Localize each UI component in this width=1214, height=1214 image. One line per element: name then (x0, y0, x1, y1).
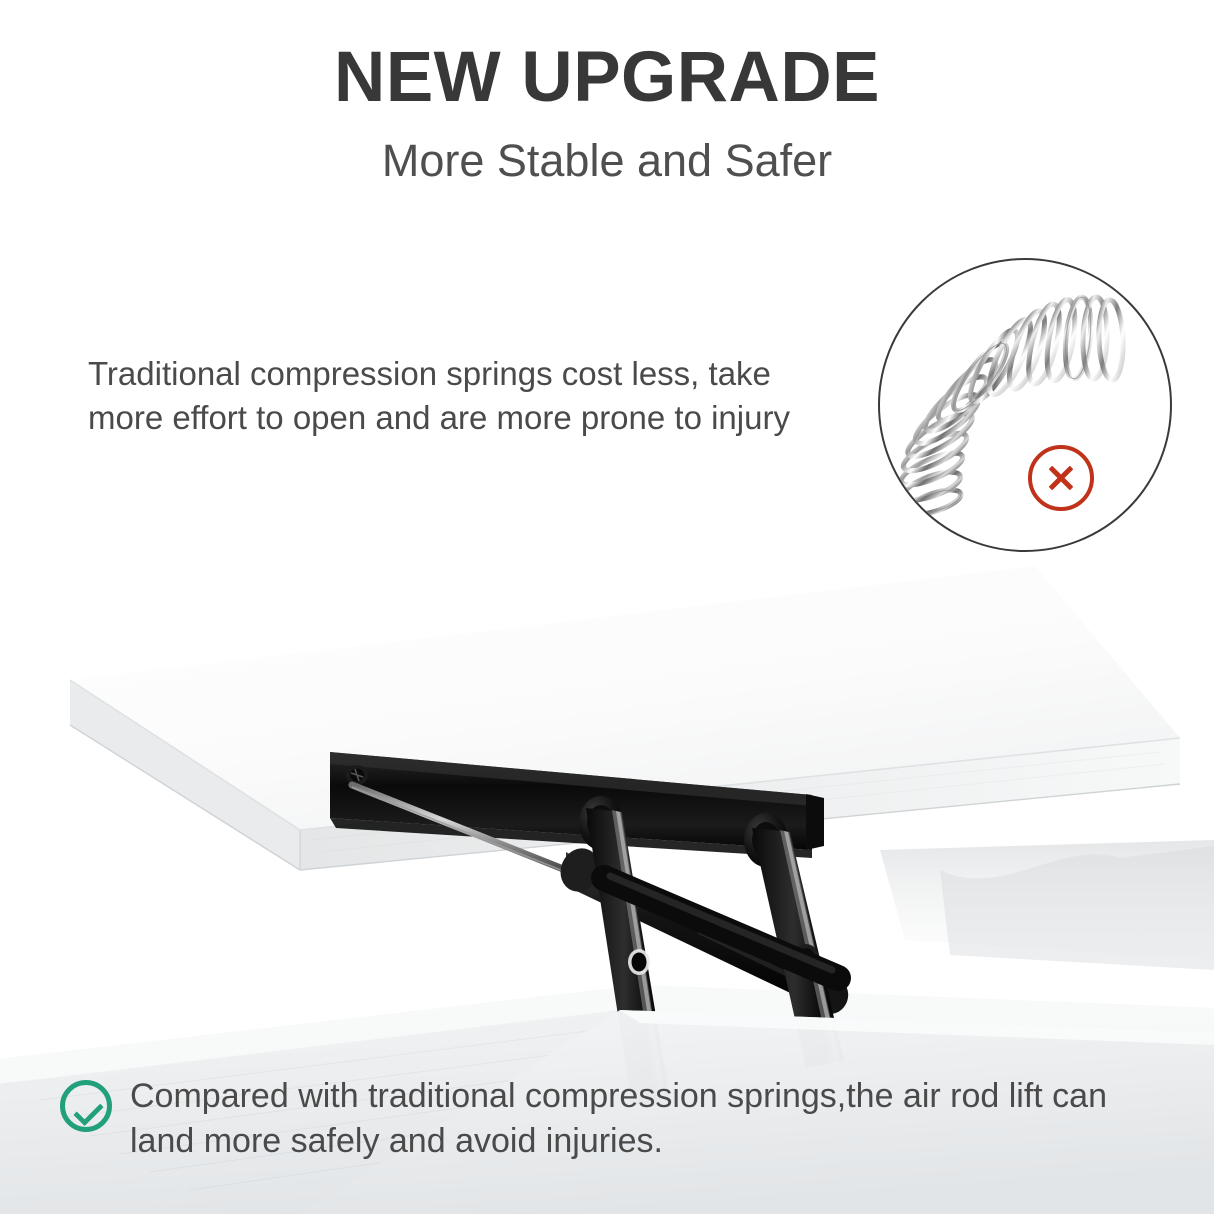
page-subtitle: More Stable and Safer (0, 138, 1214, 183)
red-x-reject-icon (1028, 445, 1094, 511)
caption-line-1: Compared with traditional compression sp… (130, 1077, 1107, 1115)
lead-paragraph: Traditional compression springs cost les… (88, 352, 858, 440)
compression-spring-illustration (880, 260, 1170, 550)
lead-line-2: more effort to open and are more prone t… (88, 396, 858, 440)
page-title: NEW UPGRADE (0, 42, 1214, 113)
green-check-approve-icon (60, 1080, 112, 1132)
rail-screw-head (346, 765, 368, 785)
infographic-page: NEW UPGRADE More Stable and Safer Tradit… (0, 0, 1214, 1214)
lead-line-1: Traditional compression springs cost les… (88, 355, 771, 392)
caption-line-2: land more safely and avoid injuries. (130, 1119, 1107, 1164)
caption-text: Compared with traditional compression sp… (130, 1074, 1107, 1164)
bottom-caption: Compared with traditional compression sp… (60, 1074, 1180, 1164)
spring-inset-circle (878, 258, 1172, 552)
header: NEW UPGRADE More Stable and Safer (0, 0, 1214, 183)
